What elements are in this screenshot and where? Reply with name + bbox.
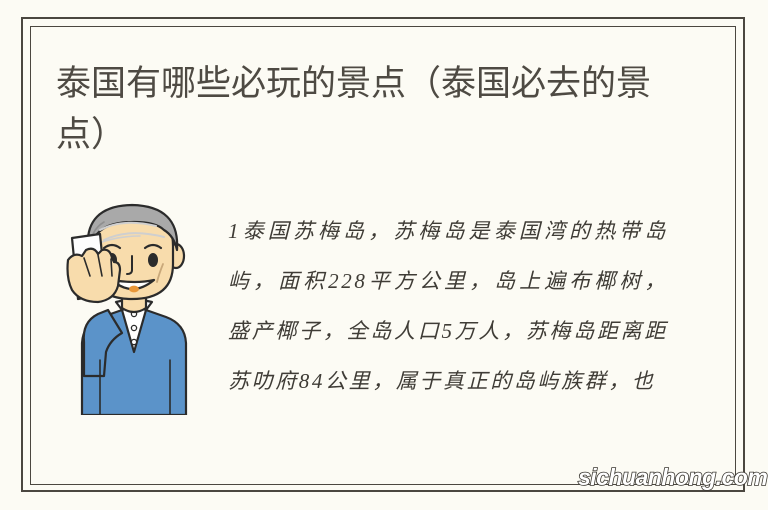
shirt-button-2 (131, 325, 136, 330)
shirt-button-3 (131, 339, 136, 344)
site-watermark: sichuanhong.com (578, 464, 767, 491)
tongue (129, 286, 139, 293)
page-title: 泰国有哪些必玩的景点（泰国必去的景点） (56, 58, 696, 160)
eye-right (148, 253, 158, 267)
illustration-elderly-man (60, 200, 200, 415)
finger-line-3 (111, 259, 112, 276)
article-body: 1泰国苏梅岛，苏梅岛是泰国湾的热带岛屿，面积228平方公里，岛上遍布椰树，盛产椰… (228, 206, 668, 406)
article-card-page: 泰国有哪些必玩的景点（泰国必去的景点） (0, 0, 768, 510)
